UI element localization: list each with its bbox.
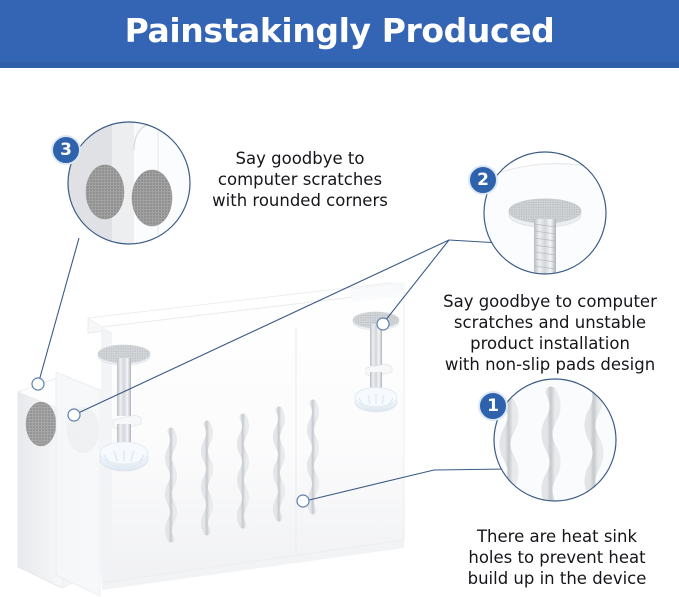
callout-badge-1[interactable]: 1 <box>478 391 508 421</box>
caption-line: Say goodbye to computer <box>424 291 676 312</box>
leader-endpoint-3 <box>32 378 44 390</box>
caption-line: with rounded corners <box>196 190 404 211</box>
infographic-canvas: Painstakingly Produced <box>0 0 679 597</box>
callout-circle-3 <box>60 100 205 260</box>
caption-line: computer scratches <box>196 169 404 190</box>
callout-caption-1: There are heat sink holes to prevent hea… <box>443 526 671 589</box>
callout-circle-1 <box>494 379 616 514</box>
callout-badge-2[interactable]: 2 <box>468 165 498 195</box>
caption-line: There are heat sink <box>443 526 671 547</box>
caption-line: with non-slip pads design <box>424 354 676 375</box>
caption-line: scratches and unstable <box>424 312 676 333</box>
leader-line-3 <box>39 238 79 381</box>
callout-circle-2 <box>484 152 606 279</box>
leader-endpoint-2-right <box>377 318 389 330</box>
caption-line: holes to prevent heat <box>443 547 671 568</box>
caption-line: Say goodbye to <box>196 148 404 169</box>
caption-line: build up in the device <box>443 568 671 589</box>
caption-line: product installation <box>424 333 676 354</box>
callout-caption-3: Say goodbye to computer scratches with r… <box>196 148 404 211</box>
callout-caption-2: Say goodbye to computer scratches and un… <box>424 291 676 375</box>
leader-endpoint-2-left <box>68 409 80 421</box>
product-render <box>18 283 404 596</box>
leader-endpoint-1 <box>297 495 309 507</box>
callout-badge-3[interactable]: 3 <box>51 135 81 165</box>
